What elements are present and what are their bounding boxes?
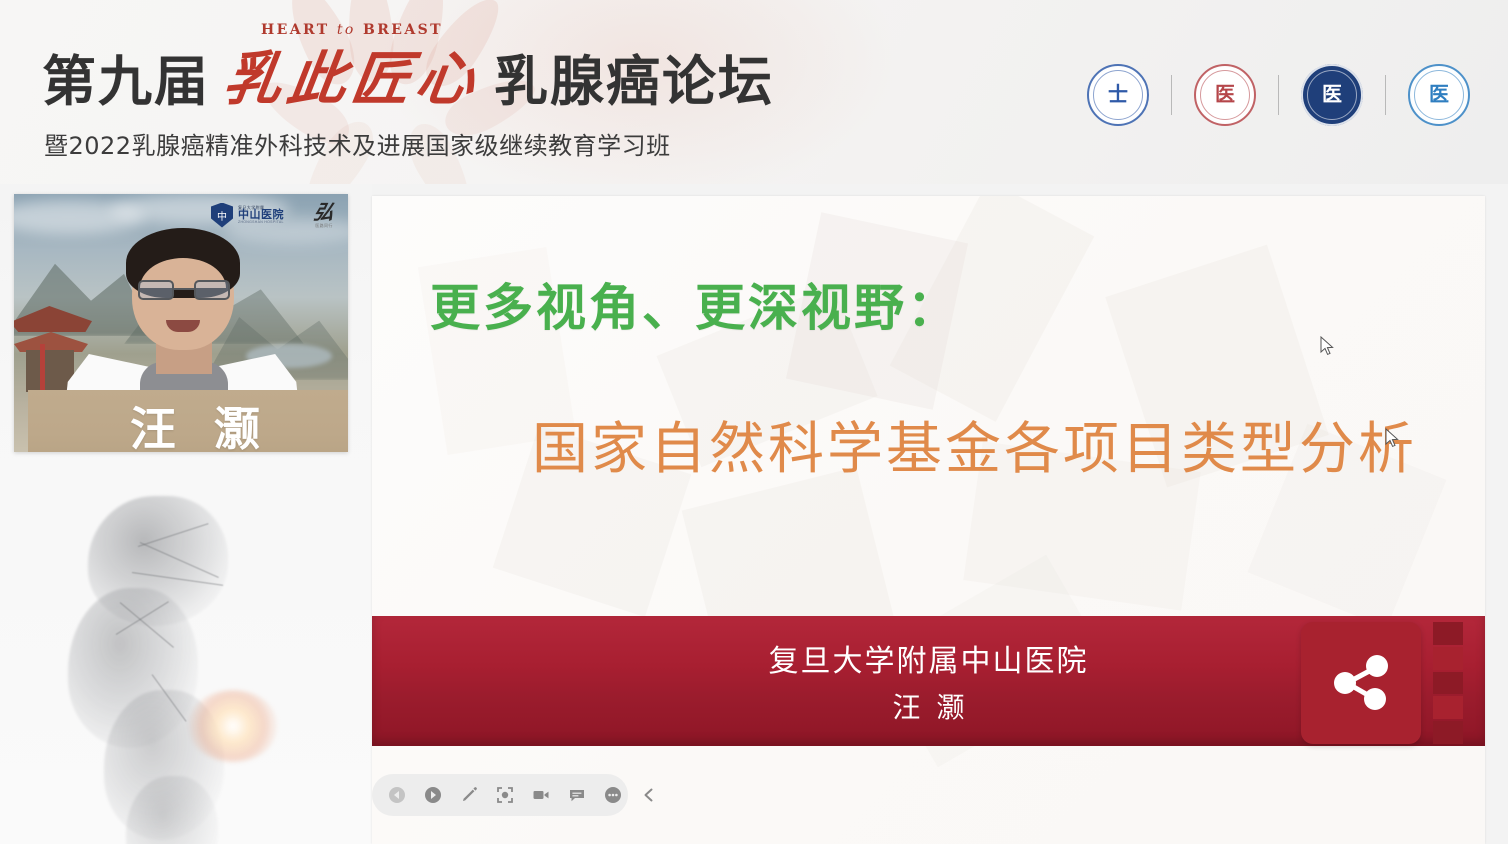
tree-branch	[132, 572, 223, 586]
video-button[interactable]	[530, 784, 552, 806]
chevron-left-icon	[640, 786, 658, 804]
more-circle-icon	[604, 786, 622, 804]
pagoda-roof-lower	[14, 332, 88, 352]
strip-segment	[1433, 721, 1463, 744]
strip-segment	[1433, 647, 1463, 670]
speaker-name-label: 汪灏	[92, 393, 298, 452]
event-header-banner: 第九届 HEART to BREAST 乳此匠心 乳腺癌论坛 暨2022乳腺癌精…	[0, 0, 1508, 184]
event-title-calligraphy: 乳此匠心	[220, 50, 484, 108]
logo-glyph: 医	[1322, 85, 1342, 105]
glasses-bridge	[174, 288, 194, 290]
more-button[interactable]	[602, 784, 624, 806]
logo-hospital-lightblue-icon: 医	[1408, 64, 1470, 126]
pagoda-body	[26, 350, 74, 392]
webinar-player-root: 第九届 HEART to BREAST 乳此匠心 乳腺癌论坛 暨2022乳腺癌精…	[0, 0, 1508, 844]
tagline-lead: HEART	[261, 22, 330, 38]
left-sidebar: 中 复旦大学附属 中山医院 ZHONGSHAN HOSPITAL 弘 医路同行 …	[0, 184, 372, 844]
collapse-toolbar-button[interactable]	[638, 784, 660, 806]
event-title-suffix: 乳腺癌论坛	[494, 54, 774, 108]
logo-glyph: 士	[1108, 85, 1128, 105]
brand-glyph: 弘	[312, 202, 336, 222]
focus-frame-icon	[496, 786, 514, 804]
logo-medical-association-red-icon: 医	[1194, 64, 1256, 126]
hospital-logo-english: ZHONGSHAN HOSPITAL	[238, 221, 284, 225]
speaker-video-thumbnail[interactable]: 中 复旦大学附属 中山医院 ZHONGSHAN HOSPITAL 弘 医路同行 …	[14, 194, 348, 452]
share-button[interactable]	[1301, 622, 1421, 744]
sponsor-logo-strip: 士 医 医 医	[1087, 64, 1470, 126]
chat-bubble-icon	[568, 786, 586, 804]
event-title: 第九届 HEART to BREAST 乳此匠心 乳腺癌论坛	[42, 48, 774, 108]
prev-arrow-icon	[388, 786, 406, 804]
hospital-shield-icon: 中	[211, 203, 233, 228]
strip-segment	[1433, 696, 1463, 719]
tree-branch	[140, 542, 219, 578]
hospital-logo-text: 复旦大学附属 中山医院 ZHONGSHAN HOSPITAL	[238, 206, 284, 225]
pagoda-roof	[14, 306, 92, 332]
glasses-lens-right	[194, 280, 230, 300]
logo-hospital-navy-icon: 医	[1301, 64, 1363, 126]
heart-to-breast-tagline: HEART to BREAST	[261, 22, 443, 38]
speaker-name-banner: 汪灏	[28, 390, 348, 452]
tagline-mid: to	[337, 22, 356, 38]
slide-headline-green: 更多视角、更深视野：	[430, 268, 960, 340]
tree-branch	[116, 601, 169, 635]
logo-university-blue-icon: 士	[1087, 64, 1149, 126]
logo-divider	[1385, 75, 1386, 115]
video-camera-icon	[532, 786, 550, 804]
annotate-button[interactable]	[458, 784, 480, 806]
tree-branch	[120, 602, 174, 648]
event-title-calligraphy-group: HEART to BREAST 乳此匠心	[224, 48, 480, 108]
tree-canopy-middle	[68, 588, 198, 748]
event-title-prefix: 第九届	[42, 54, 210, 108]
tree-canopy-upper	[88, 496, 228, 626]
secondary-brand-logo-icon: 弘 医路同行	[314, 202, 334, 228]
slide-headline-orange: 国家自然科学基金各项目类型分析	[532, 404, 1417, 485]
glasses-lens-left	[138, 280, 174, 300]
slide-affiliation: 复旦大学附属中山医院	[769, 636, 1089, 680]
tree-branch	[152, 674, 187, 722]
tree-silhouette-artwork	[20, 484, 350, 844]
pencil-icon	[460, 786, 478, 804]
tagline-tail: BREAST	[363, 22, 443, 38]
tree-branch	[138, 523, 209, 547]
fullscreen-button[interactable]	[494, 784, 516, 806]
share-color-strip	[1433, 622, 1463, 744]
share-icon	[1328, 652, 1394, 714]
logo-divider	[1278, 75, 1279, 115]
video-overlay-logos: 中 复旦大学附属 中山医院 ZHONGSHAN HOSPITAL 弘 医路同行	[211, 202, 334, 228]
tree-canopy-lower	[104, 690, 224, 840]
strip-segment	[1433, 672, 1463, 695]
next-slide-button[interactable]	[422, 784, 444, 806]
chat-button[interactable]	[566, 784, 588, 806]
light-glow-accent	[188, 690, 278, 762]
tree-trunk-base	[126, 776, 218, 844]
presentation-slide[interactable]: 更多视角、更深视野： 国家自然科学基金各项目类型分析 复旦大学附属中山医院 汪灏	[372, 196, 1485, 844]
strip-segment	[1433, 622, 1463, 645]
previous-slide-button[interactable]	[386, 784, 408, 806]
logo-glyph: 医	[1215, 85, 1235, 105]
logo-glyph: 医	[1429, 85, 1449, 105]
event-subtitle: 暨2022乳腺癌精准外科技术及进展国家级继续教育学习班	[44, 126, 671, 161]
logo-divider	[1171, 75, 1172, 115]
player-toolbar	[372, 774, 628, 816]
zhongshan-hospital-logo-icon: 中 复旦大学附属 中山医院 ZHONGSHAN HOSPITAL	[211, 203, 284, 228]
speaker-glasses	[138, 280, 230, 300]
brand-sub-text: 医路同行	[315, 224, 333, 228]
next-arrow-icon	[424, 786, 442, 804]
slide-speaker-name: 汪灏	[876, 686, 980, 726]
